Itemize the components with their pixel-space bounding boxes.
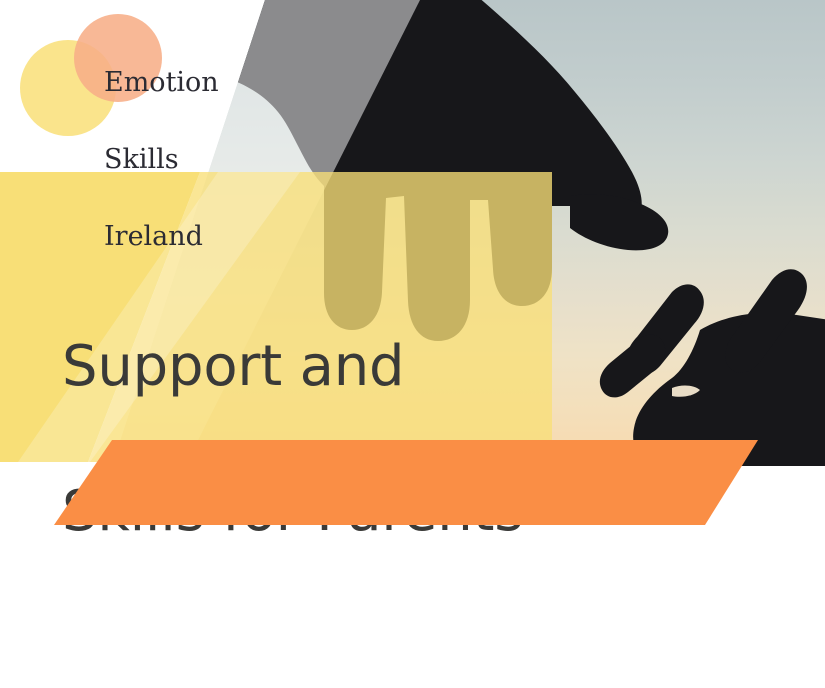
logo-wordmark: Emotion Skills Ireland [104,26,219,294]
logo-line-skills: Skills [104,141,219,179]
logo-line-emotion: Emotion [104,64,219,102]
title-line-1: Support and [62,331,532,404]
logo-line-ireland: Ireland [104,218,219,256]
poster-title: Support and Skills for Parents [62,258,532,622]
title-line-2: Skills for Parents [62,476,532,549]
emotion-skills-ireland-logo[interactable]: Emotion Skills Ireland [12,8,252,158]
poster-canvas: Support and Skills for Parents Emotion S… [0,0,825,688]
